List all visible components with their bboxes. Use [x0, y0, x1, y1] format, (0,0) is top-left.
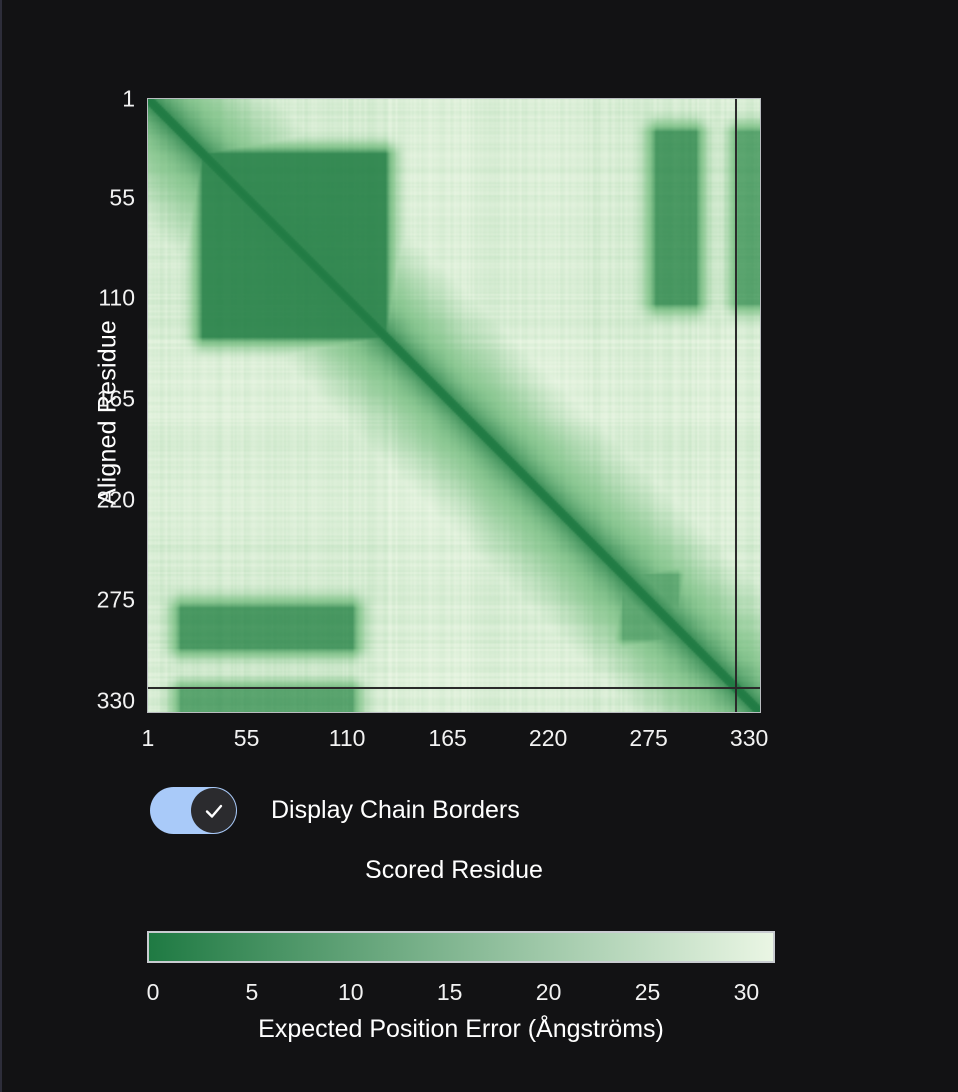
x-axis-tick-220: 220	[529, 727, 567, 750]
y-axis-tick-110: 110	[15, 287, 135, 310]
pae-heatmap[interactable]	[147, 98, 761, 713]
y-axis-ticks: 155110165220275330	[2, 98, 135, 713]
colorbar-ticks: 051015202530	[147, 981, 775, 1011]
display-chain-borders-toggle[interactable]	[150, 787, 237, 834]
y-axis-tick-1: 1	[15, 87, 135, 110]
pae-viewer-panel: Aligned Residue 155110165220275330 15511…	[0, 0, 958, 1092]
display-chain-borders-label: Display Chain Borders	[271, 796, 520, 825]
x-axis-tick-275: 275	[629, 727, 667, 750]
colorbar-tick-20: 20	[536, 981, 562, 1004]
x-axis-tick-55: 55	[234, 727, 260, 750]
x-axis-ticks: 155110165220275330	[147, 727, 761, 757]
y-axis-tick-330: 330	[15, 690, 135, 713]
colorbar-tick-30: 30	[734, 981, 760, 1004]
x-axis-tick-1: 1	[142, 727, 155, 750]
y-axis-tick-55: 55	[15, 186, 135, 209]
colorbar-tick-5: 5	[245, 981, 258, 1004]
chain-border-vertical	[735, 98, 737, 713]
chain-border-horizontal	[147, 687, 761, 689]
check-icon	[202, 799, 226, 823]
colorbar-tick-15: 15	[437, 981, 463, 1004]
y-axis-tick-275: 275	[15, 589, 135, 612]
pae-matrix-canvas[interactable]	[147, 98, 761, 713]
y-axis-tick-165: 165	[15, 388, 135, 411]
colorbar-tick-10: 10	[338, 981, 364, 1004]
colorbar-tick-25: 25	[635, 981, 661, 1004]
x-axis-tick-330: 330	[730, 727, 768, 750]
x-axis-tick-110: 110	[329, 727, 366, 750]
colorbar	[147, 931, 775, 963]
colorbar-label: Expected Position Error (Ångströms)	[102, 1015, 820, 1044]
x-axis-tick-165: 165	[428, 727, 466, 750]
colorbar-tick-0: 0	[147, 981, 160, 1004]
colorbar-gradient	[149, 933, 773, 961]
toggle-knob[interactable]	[191, 788, 236, 833]
chain-borders-toggle-row[interactable]: Display Chain Borders	[150, 787, 520, 834]
x-axis-label: Scored Residue	[147, 856, 761, 885]
y-axis-tick-220: 220	[15, 488, 135, 511]
